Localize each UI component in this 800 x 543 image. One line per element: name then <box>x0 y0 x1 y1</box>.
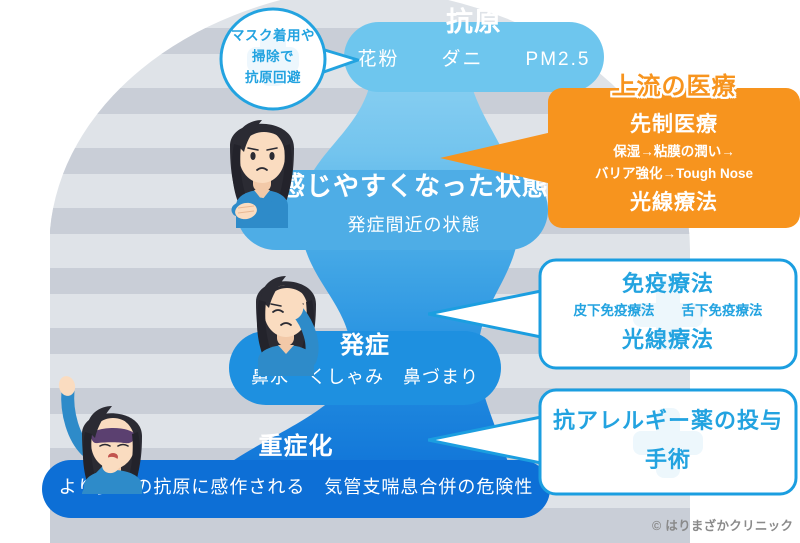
antigen-title: 抗原 <box>446 8 502 36</box>
antigen-items: 花粉 ダニ PM2.5 <box>358 50 591 70</box>
upstream-card-bottom: 光線療法 <box>630 192 718 214</box>
infographic-canvas: 抗原 花粉 ダニ PM2.5 感じやすくなった状態 発症間近の状態 発症 鼻水 … <box>0 0 800 543</box>
prevention-bubble-line-1: マスク着用や <box>231 29 315 43</box>
upstream-card-title: 上流の医療 <box>612 74 737 99</box>
drug-card-line-1: 抗アレルギー薬の投与 <box>553 409 783 432</box>
immuno-card-bottom: 光線療法 <box>622 328 714 351</box>
person-onset-illustration <box>236 256 336 376</box>
immuno-card-detail: 皮下免疫療法 舌下免疫療法 <box>574 304 763 318</box>
prevention-bubble-line-2: 掃除で <box>252 50 294 64</box>
person-sensitized-illustration <box>208 98 316 228</box>
stage-severe-title: 重症化 <box>259 434 334 459</box>
prevention-bubble-line-3: 抗原回避 <box>245 71 301 85</box>
stage-onset-title: 発症 <box>340 333 390 358</box>
immuno-card-heading: 免疫療法 <box>622 272 714 295</box>
upstream-card-heading: 先制医療 <box>630 114 718 136</box>
person-severe-illustration <box>36 372 154 494</box>
credit-line: © はりまざかクリニック <box>652 520 793 533</box>
prevention-bubble-shape <box>210 6 390 112</box>
drug-card-line-2: 手術 <box>645 448 691 471</box>
drug-card-shape[interactable] <box>428 388 800 496</box>
upstream-card-detail-1: 保湿→粘膜の潤い→ <box>613 145 735 159</box>
upstream-card-detail-2: バリア強化→Tough Nose <box>595 167 753 181</box>
